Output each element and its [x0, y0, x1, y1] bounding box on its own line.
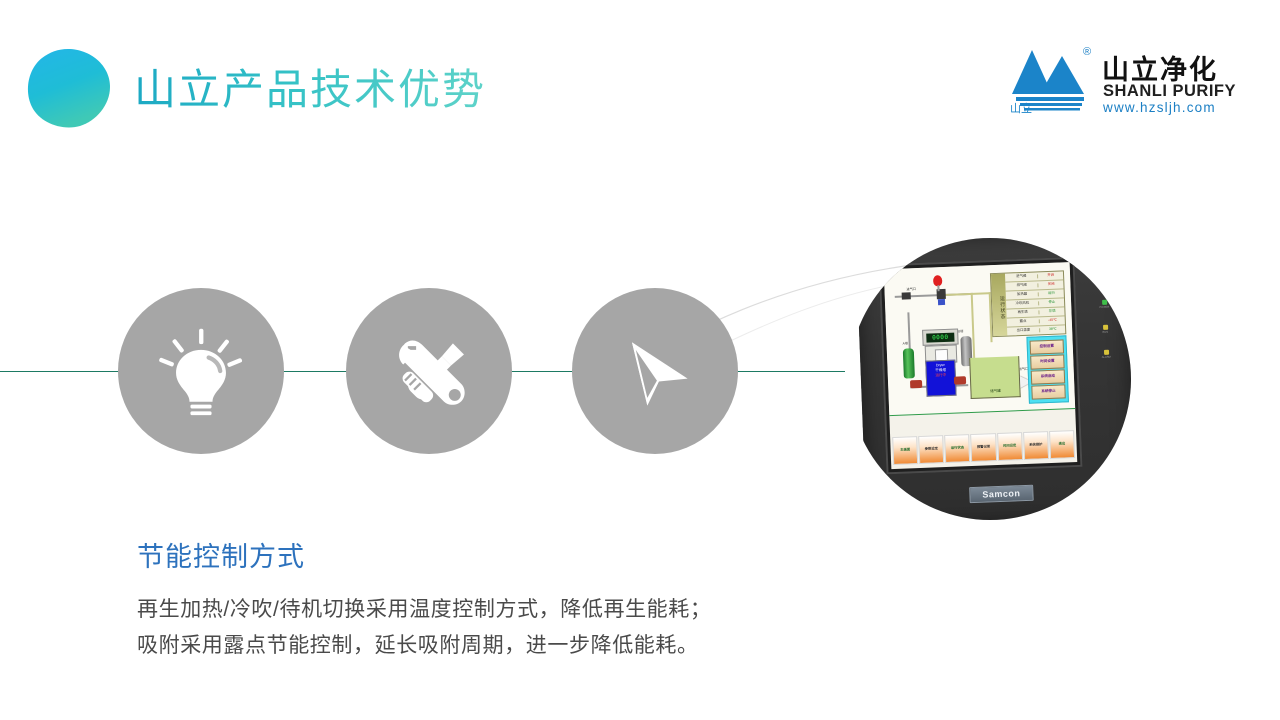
- power-led-label: POWER: [1099, 306, 1109, 309]
- hmi-bottom-button[interactable]: 报警记录: [971, 433, 997, 462]
- wrench-screwdriver-icon: [383, 325, 475, 417]
- tag-cyl-grey: B塔: [958, 330, 963, 333]
- status-value: 左塔: [1040, 310, 1065, 314]
- section-subtitle: 节能控制方式: [137, 538, 305, 576]
- status-value: 运行: [1039, 292, 1064, 296]
- hmi-bottom-toolbar: 主画面 参数设定 运行状态 报警记录 时间设定 系统维护 退出: [890, 430, 1077, 465]
- status-name: 露点: [1007, 320, 1041, 325]
- status-value: 关闭: [1039, 283, 1064, 287]
- registered-trademark-icon: ®: [1083, 46, 1091, 58]
- hmi-bottom-button[interactable]: 参数设定: [918, 435, 944, 464]
- table-row: 出口温度 38℃: [1007, 325, 1065, 335]
- status-name: 加热器: [1006, 293, 1040, 298]
- balloon-stem: [937, 285, 939, 291]
- header-blob-decoration: [24, 47, 112, 129]
- tag-cyl-green: A塔: [903, 342, 908, 345]
- status-name: 冷吹风机: [1006, 302, 1040, 307]
- page-title: 山立产品技术优势: [134, 61, 486, 119]
- brand-logo: 山立 ® 山立净化 SHANLI PURIFY www.hzsljh.com: [1010, 40, 1218, 122]
- hmi-bottom-button[interactable]: 系统维护: [1023, 431, 1049, 460]
- cursor-arrow-icon: [607, 323, 703, 419]
- hmi-side-button[interactable]: 控制设置: [1030, 339, 1065, 354]
- hmi-status-rows: 进气阀 开启 排气阀 关闭 加热器 运行: [1005, 271, 1065, 335]
- device-brand-label: Samcon: [969, 485, 1034, 503]
- hmi-screen[interactable]: 进气口 A塔 B塔 出气口 0000 Dryer 干燥塔: [884, 262, 1078, 469]
- mountain-logo-icon: 山立: [1010, 42, 1090, 114]
- status-name: 进气阀: [1005, 275, 1039, 280]
- pipe-left: [907, 312, 911, 352]
- hmi-bottom-button[interactable]: 主画面: [892, 436, 918, 465]
- hmi-process-diagram: 进气口 A塔 B塔 出气口 0000 Dryer 干燥塔: [884, 262, 1076, 416]
- hmi-status-table: 运行状态 进气阀 开启 排气阀 关闭: [990, 270, 1066, 337]
- digital-readout: 0000: [922, 328, 959, 345]
- hmi-side-button[interactable]: 系统启动: [1031, 369, 1066, 384]
- hmi-side-button-panel: 控制设置 时间设置 系统启动 系统停止: [1026, 335, 1069, 403]
- slide-canvas: 山立产品技术优势 山立 ® 山立净化 SHANLI PURIFY www.hzs…: [0, 0, 1280, 720]
- status-value: -45℃: [1040, 319, 1065, 323]
- dryer-alarm: 运行中: [927, 373, 955, 379]
- device-led-strip: POWER RUN ALARM: [1096, 300, 1114, 360]
- body-line: 吸附采用露点节能控制，延长吸附周期，进一步降低能耗。: [137, 628, 711, 664]
- device-chassis: 进气口 A塔 B塔 出气口 0000 Dryer 干燥塔: [856, 238, 1131, 520]
- logo-website: www.hzsljh.com: [1103, 100, 1216, 115]
- status-value: 开启: [1038, 274, 1063, 278]
- hmi-side-button[interactable]: 时间设置: [1030, 354, 1065, 369]
- hmi-device-photo: 进气口 A塔 B塔 出气口 0000 Dryer 干燥塔: [849, 238, 1131, 520]
- cylinder-a: [903, 348, 915, 378]
- hmi-bottom-button[interactable]: 退出: [1049, 430, 1075, 459]
- lightbulb-icon: [153, 323, 249, 419]
- run-led-icon: RUN: [1102, 325, 1108, 334]
- section-body: 再生加热/冷吹/待机切换采用温度控制方式，降低再生能耗； 吸附采用露点节能控制，…: [137, 592, 711, 664]
- digital-readout-value: 0000: [926, 332, 954, 342]
- valve-right-bottom: [954, 376, 966, 384]
- body-line: 再生加热/冷吹/待机切换采用温度控制方式，降低再生能耗；: [137, 592, 711, 628]
- status-value: 38℃: [1041, 328, 1066, 332]
- status-name: 出口温度: [1007, 329, 1041, 334]
- timeline-circle-idea[interactable]: [118, 288, 284, 454]
- hmi-bottom-button[interactable]: 时间设定: [997, 432, 1023, 461]
- valve-left-bottom: [910, 380, 922, 388]
- status-value: 停止: [1040, 301, 1065, 305]
- run-led-label: RUN: [1102, 331, 1108, 334]
- status-name: 再生塔: [1006, 311, 1040, 316]
- valve-inlet: [902, 292, 911, 299]
- timeline-circle-tools[interactable]: [346, 288, 512, 454]
- timeline-circle-cursor[interactable]: [572, 288, 738, 454]
- power-led-icon: POWER: [1099, 300, 1109, 309]
- hmi-bottom-button[interactable]: 运行状态: [944, 434, 970, 463]
- dryer-tower: Dryer 干燥塔 运行中: [925, 360, 956, 397]
- hmi-side-button[interactable]: 系统停止: [1031, 384, 1066, 399]
- tag-inlet: 进气口: [906, 288, 916, 292]
- actuator-icon: [938, 299, 945, 305]
- storage-tank: 储气罐: [969, 356, 1021, 399]
- svg-text:山立: 山立: [1010, 101, 1032, 114]
- device-bezel: 进气口 A塔 B塔 出气口 0000 Dryer 干燥塔: [879, 257, 1083, 474]
- alarm-led-icon: ALARM: [1101, 350, 1110, 359]
- alarm-led-label: ALARM: [1102, 356, 1111, 359]
- storage-tank-label: 储气罐: [971, 388, 1019, 395]
- logo-name-en: SHANLI PURIFY: [1103, 82, 1236, 101]
- status-name: 排气阀: [1005, 284, 1039, 289]
